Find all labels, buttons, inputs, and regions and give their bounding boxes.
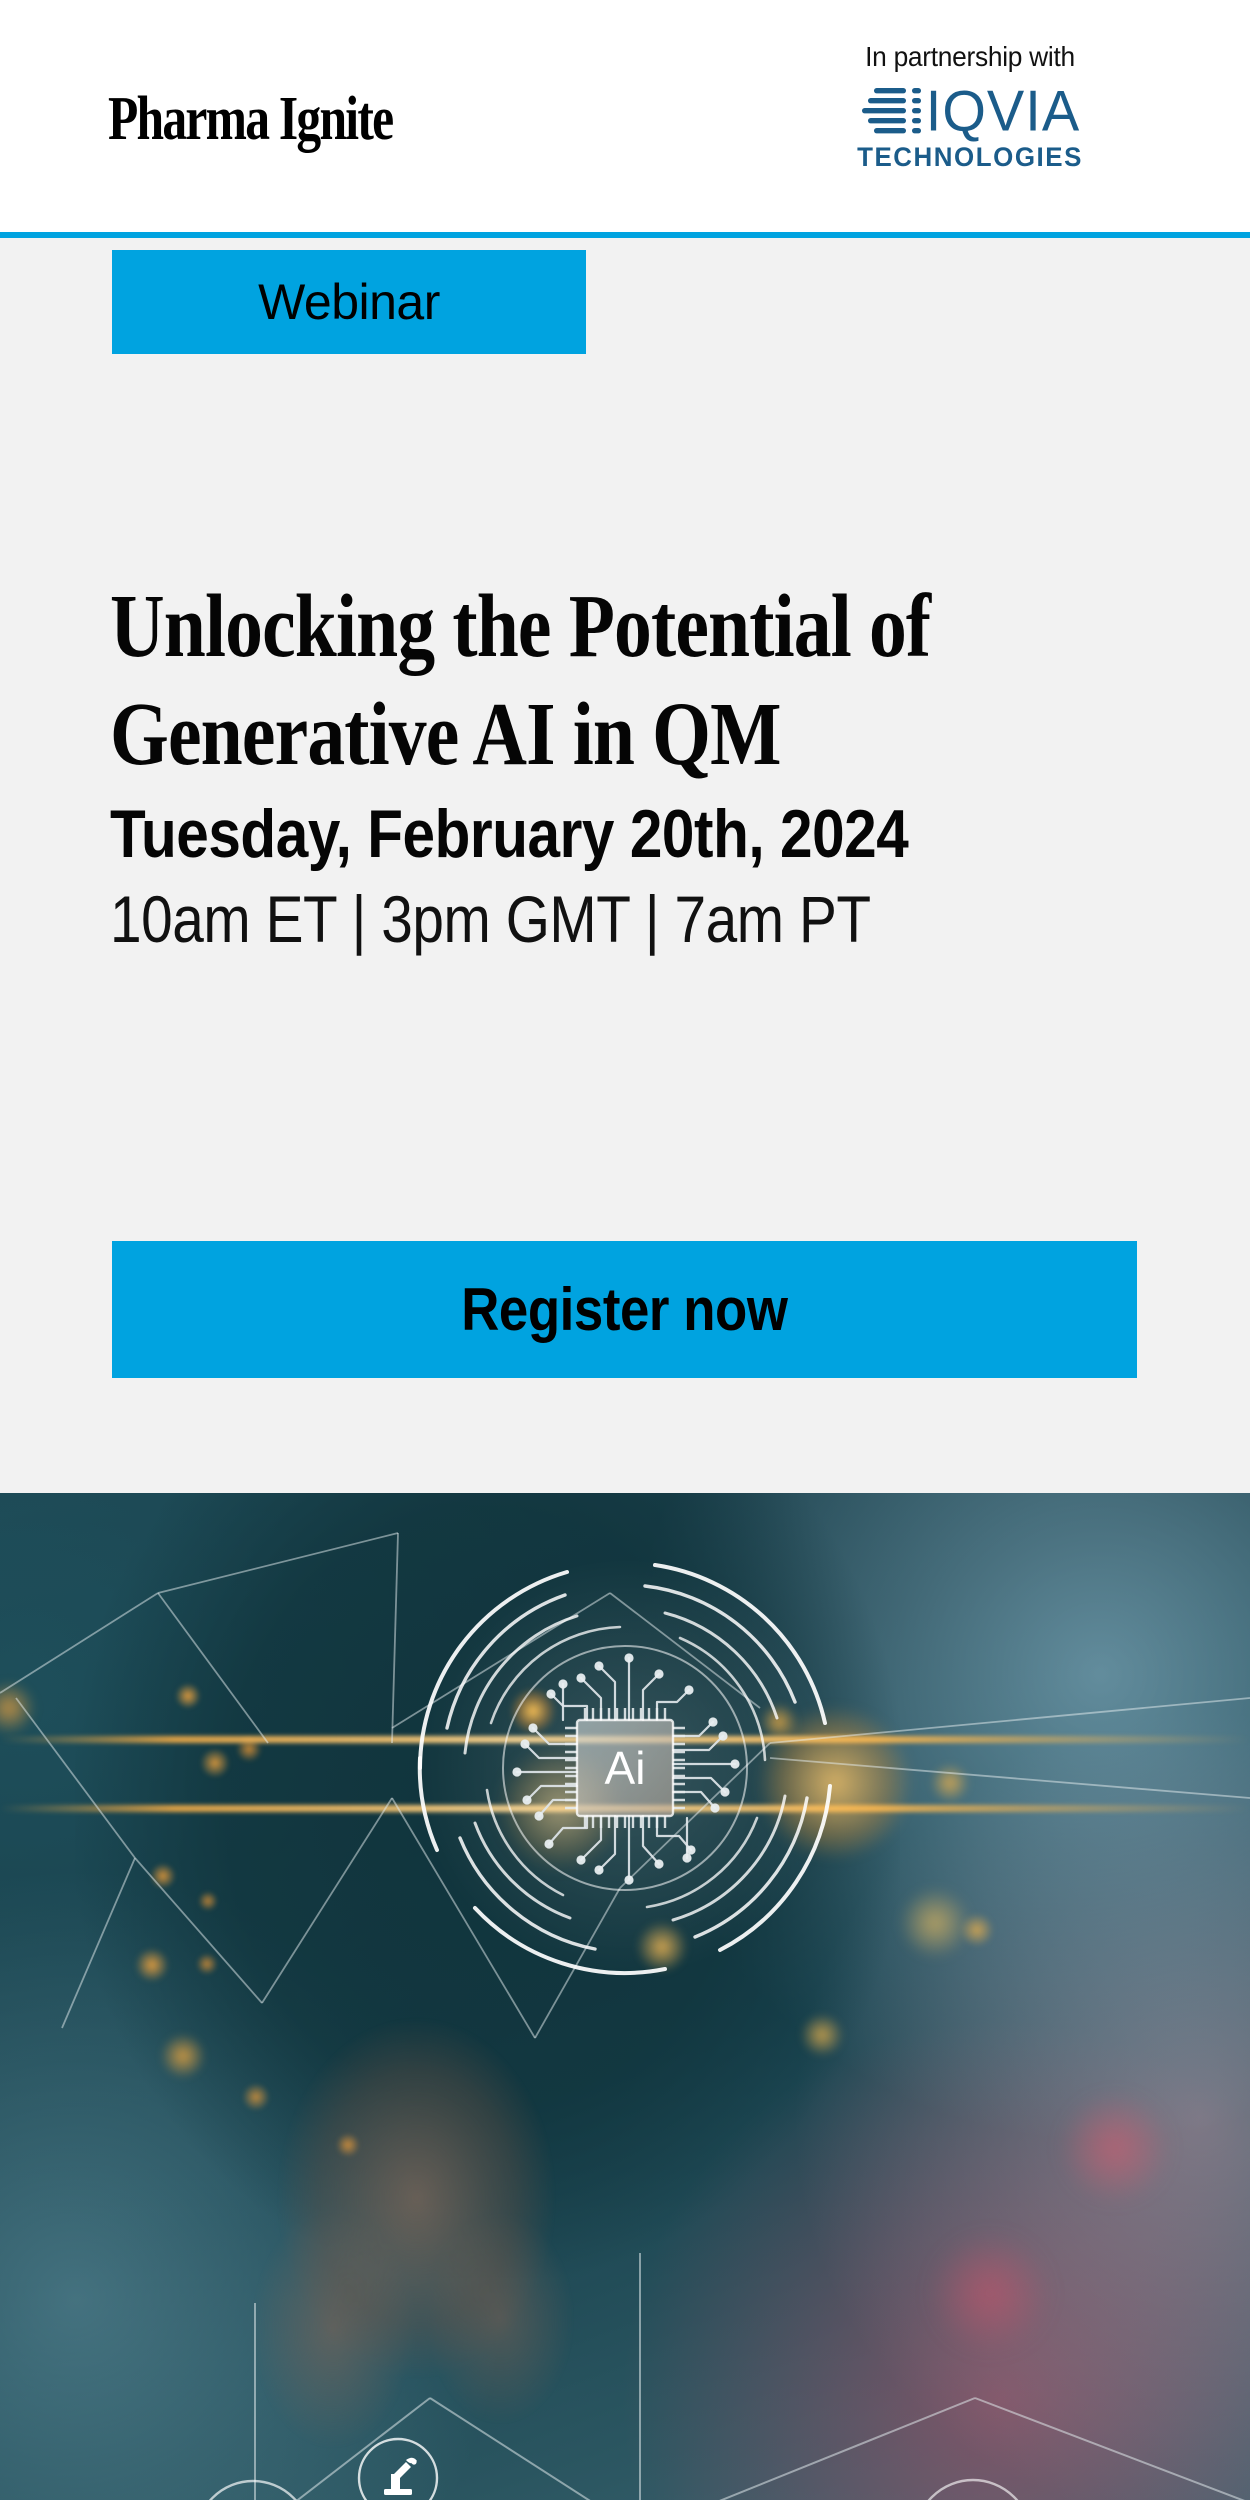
ai-core-graphic: Ai: [415, 1558, 835, 1978]
event-date: Tuesday, February 20th, 2024: [110, 798, 908, 870]
page-title: Unlocking the Potential of Generative AI…: [110, 573, 1000, 789]
iqvia-bars-icon: [860, 85, 922, 137]
promo-panel: Webinar Unlocking the Potential of Gener…: [0, 238, 1250, 1493]
ai-chip: Ai: [565, 1708, 685, 1828]
brand-logo[interactable]: Pharma Ignite: [108, 88, 392, 150]
event-times: 10am ET | 3pm GMT | 7am PT: [110, 883, 871, 955]
network-lines: [0, 2253, 1250, 2500]
webinar-badge-label: Webinar: [258, 277, 440, 327]
node-gears: [915, 2480, 1031, 2500]
robot-arm-icon: [384, 2458, 417, 2495]
webinar-badge: Webinar: [112, 250, 586, 354]
iqvia-subtitle: TECHNOLOGIES: [807, 142, 1133, 172]
ai-chip-label: Ai: [605, 1742, 646, 1794]
page-header: Pharma Ignite In partnership with IQVIA: [0, 0, 1250, 238]
register-now-label: Register now: [461, 1280, 787, 1340]
iqvia-logo[interactable]: IQVIA: [800, 84, 1140, 138]
node-monitor-analytics: [196, 2481, 310, 2500]
iqvia-wordmark: IQVIA: [926, 83, 1080, 138]
partnership-block: In partnership with IQVIA TECHNOLOGIES: [800, 42, 1140, 172]
hero-image: Ai: [0, 1493, 1250, 2500]
partnership-label: In partnership with: [810, 42, 1130, 72]
node-robot-arm-top: [359, 2439, 437, 2500]
register-now-button[interactable]: Register now: [112, 1241, 1137, 1378]
hero-network-overlay: Ai: [0, 1493, 1250, 2500]
